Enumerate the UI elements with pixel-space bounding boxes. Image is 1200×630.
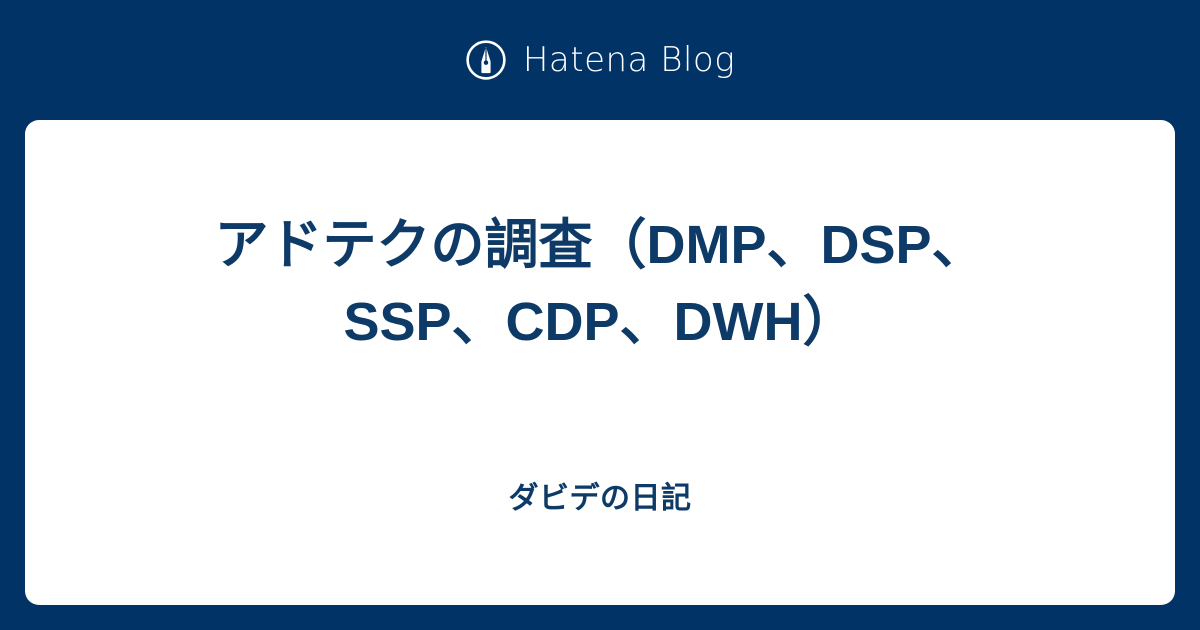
og-image-canvas: Hatena Blog アドテクの調査（DMP、DSP、SSP、CDP、DWH）… xyxy=(0,0,1200,630)
brand-name-label: Hatena Blog xyxy=(523,43,735,77)
entry-title: アドテクの調査（DMP、DSP、SSP、CDP、DWH） xyxy=(200,207,1000,360)
blog-name-label: ダビデの日記 xyxy=(509,479,692,518)
pen-nib-circle-icon xyxy=(465,39,507,81)
entry-card-content: アドテクの調査（DMP、DSP、SSP、CDP、DWH） ダビデの日記 xyxy=(25,120,1175,605)
entry-card: アドテクの調査（DMP、DSP、SSP、CDP、DWH） ダビデの日記 xyxy=(25,120,1175,605)
brand-header: Hatena Blog xyxy=(0,0,1200,120)
